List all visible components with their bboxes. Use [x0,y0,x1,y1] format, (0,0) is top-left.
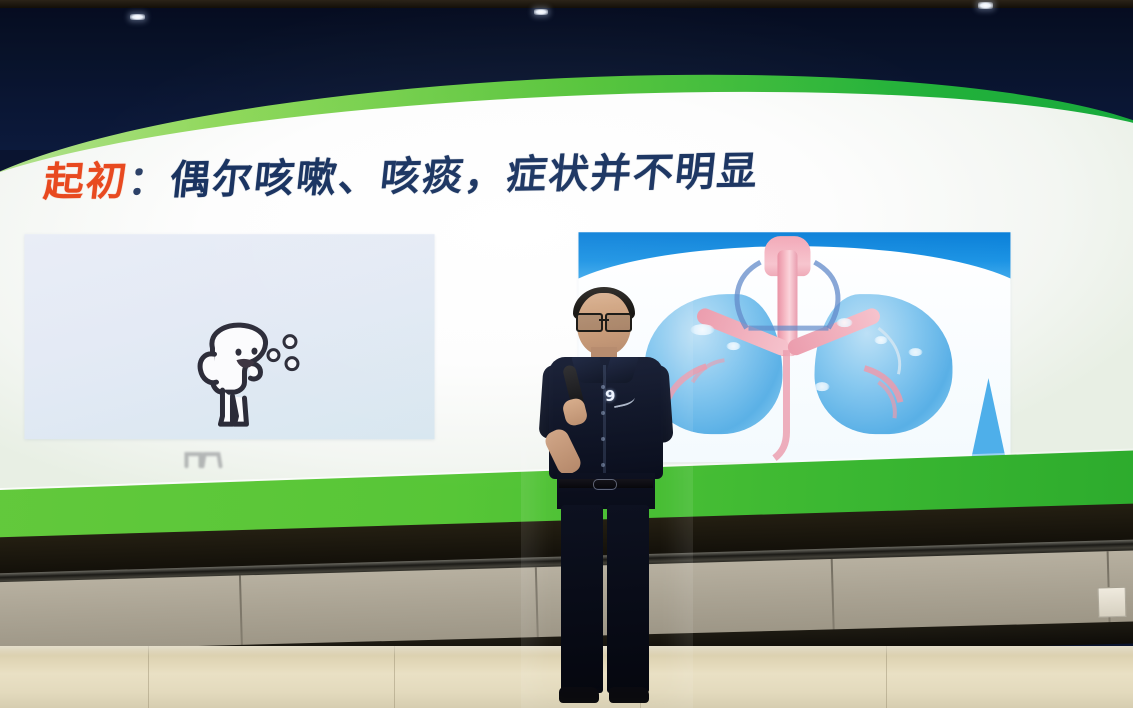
wall-switch-plate[interactable] [1098,587,1127,618]
cartoon-reflection [176,448,246,474]
presenter-shoe-right [609,687,649,703]
presenter-leg-right [607,505,649,693]
slide-title: 起初：偶尔咳嗽、咳痰，症状并不明显 [41,149,761,207]
slide-title-body: 偶尔咳嗽、咳痰，症状并不明显 [168,149,762,204]
lung-highlight [908,348,922,356]
shirt-button [601,411,605,415]
lung-highlight [814,382,829,391]
shirt-placket [603,365,606,473]
blue-triangle-accent [970,378,1006,462]
glasses-lens-right [605,313,632,332]
glasses-lens-left [576,313,603,332]
presenter-leg-left [561,505,603,693]
belt-buckle-icon [593,479,617,490]
spotlight-icon [978,2,993,9]
coughing-cartoon-icon [174,312,314,432]
shirt-button [601,437,605,441]
cough-mark-icon [266,348,280,362]
presentation-photo: 起初：偶尔咳嗽、咳痰，症状并不明显 [0,0,1133,708]
glasses-bridge [599,319,609,321]
slide-title-prefix: 起初 [41,158,130,205]
slide-image-left [24,234,434,439]
ceiling-beam [0,0,1133,8]
cough-mark-icon [284,356,299,371]
lung-highlight [874,336,887,344]
spotlight-icon [534,9,548,15]
shirt-button [601,463,605,467]
lung-highlight [690,324,714,335]
cough-mark-icon [282,334,297,349]
spotlight-icon [130,14,145,20]
presenter: 9 [531,287,681,708]
glasses-icon [576,313,632,328]
presenter-shoe-left [559,687,599,703]
lung-highlight [726,342,740,350]
lung-highlight [836,318,852,327]
slide-title-colon: ： [126,158,173,205]
